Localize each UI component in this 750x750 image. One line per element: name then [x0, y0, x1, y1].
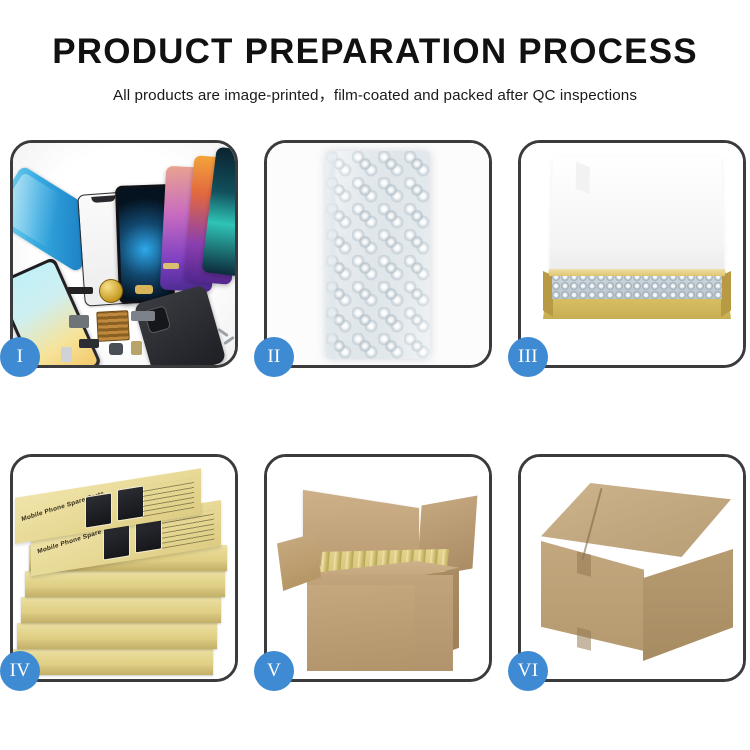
step-photo-6 — [521, 457, 743, 679]
header: PRODUCT PREPARATION PROCESS All products… — [0, 0, 750, 105]
ic-chip-part — [96, 310, 130, 342]
step-badge-1: I — [0, 337, 40, 377]
step-badge-6: VI — [508, 651, 548, 691]
lid-flap — [576, 162, 590, 195]
step-badge-4: IV — [0, 651, 40, 691]
wrap-edge-fold — [326, 151, 335, 359]
part-speaker — [79, 339, 99, 348]
step-photo-2 — [267, 143, 489, 365]
step-photo-5 — [267, 457, 489, 679]
stack-box-2 — [25, 571, 225, 597]
step-badge-3: III — [508, 337, 548, 377]
part-ribbon — [163, 263, 179, 269]
stack-box-5 — [13, 649, 213, 675]
white-box-lid — [549, 157, 725, 284]
box-stack: Mobile Phone Spare Parts Mobile Phone Sp… — [13, 477, 235, 677]
carton-tape-upper — [577, 551, 591, 576]
photo-sealed-shipping-carton — [521, 457, 743, 679]
carton-front-panel — [307, 585, 415, 671]
box-side — [17, 640, 217, 649]
bubble-wrapped-product — [326, 151, 430, 359]
photo-kraft-tray-box — [521, 143, 743, 365]
photo-phone-parts-assortment — [13, 143, 235, 365]
steps-grid: I II — [10, 140, 742, 682]
carton-tape-lower — [577, 627, 591, 650]
part-button — [61, 347, 72, 362]
step-card-5[interactable]: V — [264, 454, 492, 682]
step-badge-2: II — [254, 337, 294, 377]
photo-bubble-wrap-packing — [267, 143, 489, 365]
step-card-1[interactable]: I — [10, 140, 238, 368]
photo-stacked-retail-boxes: Mobile Phone Spare Parts Mobile Phone Sp… — [13, 457, 235, 679]
page-subtitle: All products are image-printed，film-coat… — [0, 83, 750, 105]
step-card-3[interactable]: III — [518, 140, 746, 368]
step-photo-4: Mobile Phone Spare Parts Mobile Phone Sp… — [13, 457, 235, 679]
box-side — [21, 614, 221, 623]
box-artwork-phone-d — [117, 485, 144, 521]
box-spec-text-lines — [142, 478, 195, 517]
part-camera-module — [109, 343, 123, 355]
step-badge-5: V — [254, 651, 294, 691]
stack-box-4 — [17, 623, 217, 649]
vibrator-motor-part — [99, 279, 123, 303]
page-title: PRODUCT PREPARATION PROCESS — [0, 34, 750, 69]
box-artwork-phone-c — [85, 492, 112, 528]
box-side — [25, 588, 225, 597]
step-card-2[interactable]: II — [264, 140, 492, 368]
part-battery — [67, 287, 93, 294]
tray-contents-bubble-wrap — [552, 273, 722, 299]
step-photo-3 — [521, 143, 743, 365]
bubble-texture — [552, 273, 722, 299]
tray-right-wall — [721, 271, 731, 317]
part-connector — [131, 311, 155, 321]
box-side — [13, 666, 213, 675]
box-artwork-phone-a — [103, 524, 130, 560]
product-preparation-infographic: PRODUCT PREPARATION PROCESS All products… — [0, 0, 750, 750]
step-photo-1 — [13, 143, 235, 365]
part-sim-tray — [131, 341, 142, 355]
stack-box-3 — [21, 597, 221, 623]
part-bracket — [69, 315, 89, 328]
step-card-6[interactable]: VI — [518, 454, 746, 682]
tray-rim — [549, 269, 725, 276]
step-card-4[interactable]: Mobile Phone Spare Parts Mobile Phone Sp… — [10, 454, 238, 682]
plastic-sheen — [326, 151, 430, 359]
part-flex-cable — [135, 285, 153, 294]
photo-open-shipping-carton — [267, 457, 489, 679]
